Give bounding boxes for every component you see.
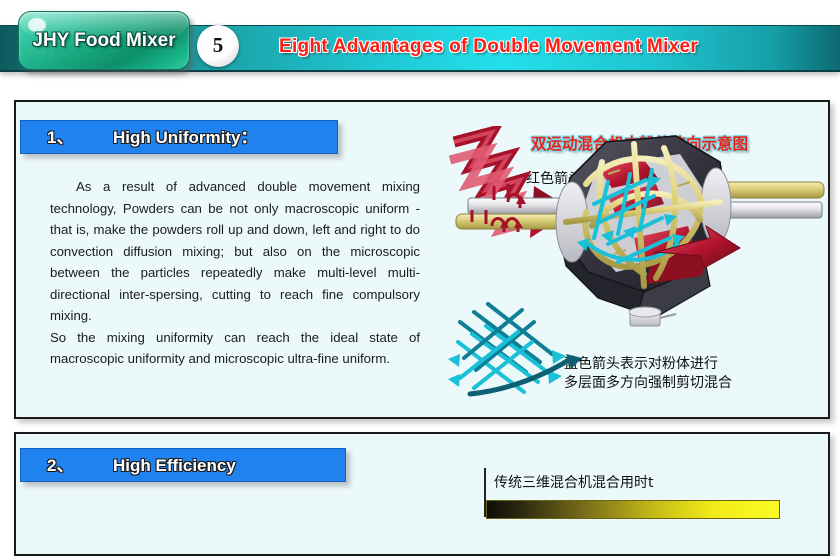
chart-label-traditional: 传统三维混合机混合用时t	[494, 472, 654, 492]
section-heading-high-efficiency: 2、 High Efficiency	[20, 448, 346, 482]
section-label-1: High Uniformity：	[113, 121, 258, 153]
uniformity-body-text: As a result of advanced double movement …	[50, 176, 420, 370]
section-number-2: 2、	[47, 449, 73, 481]
blue-mesh-arrows	[448, 304, 582, 394]
section-label-2: High Efficiency	[113, 449, 236, 481]
page-title: Eight Advantages of Double Movement Mixe…	[279, 31, 799, 63]
chart-bar-traditional	[486, 500, 780, 519]
section-number-1: 1、	[47, 121, 73, 153]
section-heading-high-uniformity: 1、 High Uniformity：	[20, 120, 338, 154]
uniformity-paragraph-2: So the mixing uniformity can reach the i…	[50, 327, 420, 370]
double-movement-mixer-illustration	[448, 126, 830, 406]
brand-logo: JHY Food Mixer	[18, 11, 190, 70]
slide-number-badge: 5	[197, 25, 239, 67]
brand-label: JHY Food Mixer	[19, 12, 189, 69]
slide-number-label: 5	[197, 25, 239, 67]
uniformity-paragraph-1: As a result of advanced double movement …	[50, 176, 420, 327]
